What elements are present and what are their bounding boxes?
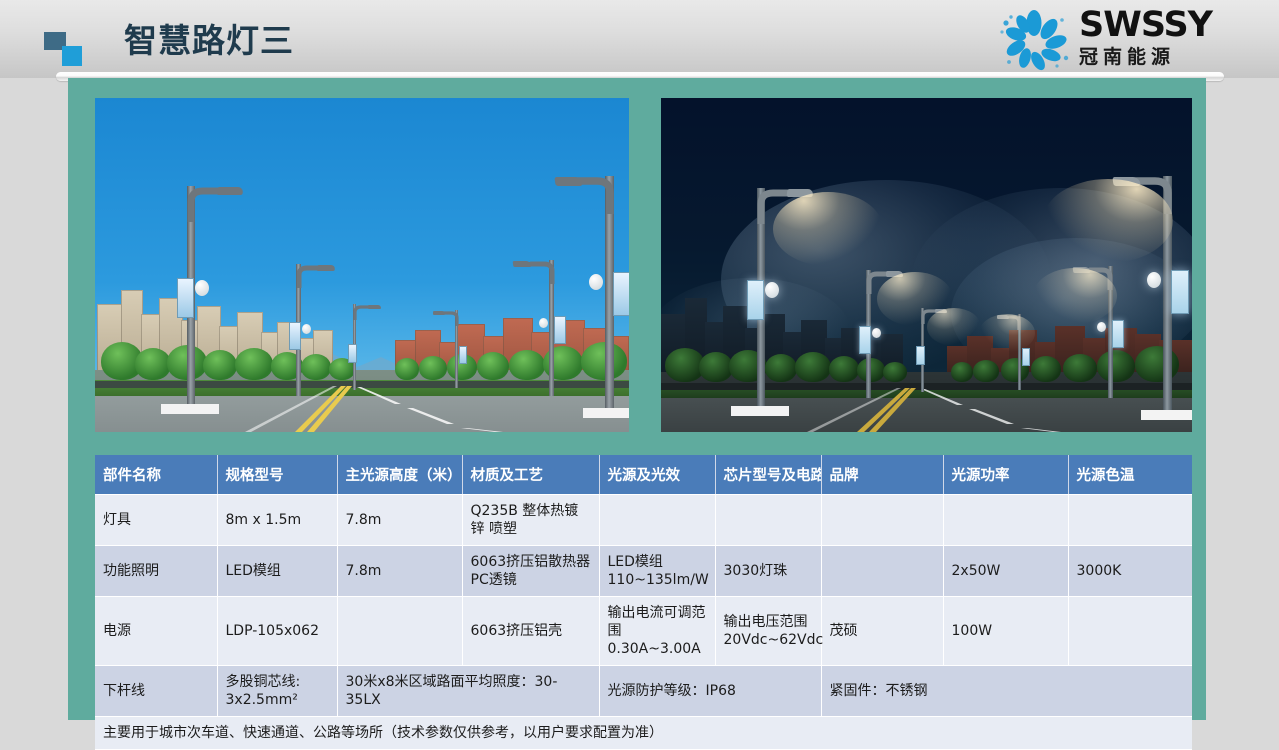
streetlight-luminaire [368,305,381,309]
cell-light-efficacy: LED模组 110~135lm/W [599,546,715,597]
streetlight-base-plate [1141,410,1192,420]
streetlight-luminaire [1073,267,1091,273]
column-header-light-efficacy: 光源及光效 [599,455,715,495]
water-droplet-burst-logo-icon [997,8,1071,72]
streetlight-pole [1113,176,1187,414]
streetlight-pole [915,308,947,392]
cell-material: Q235B 整体热镀锌 喷塑 [462,495,599,546]
cell-light-power [943,495,1068,546]
table-row: 灯具 8m x 1.5m 7.8m Q235B 整体热镀锌 喷塑 [95,495,1192,546]
streetlight-luminaire [433,311,445,315]
streetlight-base-plate [731,406,789,416]
streetlight-banner [177,278,194,318]
streetlight-pole [857,270,903,398]
tree [477,352,509,380]
cell-light-power: 100W [943,597,1068,666]
table-row: 电源 LDP-105x062 6063挤压铝壳 输出电流可调范围0.30A~3.… [95,597,1192,666]
tree [829,356,859,382]
cell-spec-model: 8m x 1.5m [217,495,337,546]
cell-light-efficacy: 输出电流可调范围0.30A~3.00A [599,597,715,666]
tree [395,358,419,380]
cell-chip-circuit: 3030灯珠 [715,546,821,597]
streetlight-luminaire [886,271,903,277]
tree [699,352,733,382]
smart-streetlight-night-photo [661,98,1192,432]
tree [135,348,171,380]
streetlight-pole [433,310,467,388]
company-logo: SWSSY 冠南能源 [997,6,1259,74]
streetlight-camera-dome-icon [539,318,548,328]
column-header-light-power: 光源功率 [943,455,1068,495]
table-header-row: 部件名称 规格型号 主光源高度（米） 材质及工艺 光源及光效 芯片型号及电路 品… [95,455,1192,495]
streetlight-banner [459,346,467,364]
page-title: 智慧路灯三 [124,21,294,61]
cell-light-power: 2x50W [943,546,1068,597]
cell-fastener-material: 紧固件：不锈钢 [821,666,1192,717]
cell-light-height: 7.8m [337,495,462,546]
cell-color-temp [1068,597,1192,666]
streetlight-camera-dome-icon [195,280,209,296]
cell-part-name: 电源 [95,597,217,666]
cell-color-temp [1068,495,1192,546]
column-header-brand: 品牌 [821,455,943,495]
column-header-color-temp: 光源色温 [1068,455,1192,495]
decor-square-light-icon [62,46,82,66]
streetlight-camera-dome-icon [302,324,311,334]
cell-road-illuminance: 30米x8米区域路面平均照度：30-35LX [337,666,599,717]
cell-color-temp: 3000K [1068,546,1192,597]
streetlight-pole [555,176,629,412]
header-decoration-squares [44,32,88,66]
cell-brand: 茂硕 [821,597,943,666]
column-header-light-height: 主光源高度（米） [337,455,462,495]
cell-chip-circuit [715,495,821,546]
streetlight-luminaire [554,177,582,186]
streetlight-banner [613,272,629,316]
streetlight-banner [859,326,871,354]
streetlight-banner [747,280,764,320]
streetlight-luminaire [997,315,1009,319]
streetlight-pole [743,188,813,410]
specification-table: 部件名称 规格型号 主光源高度（米） 材质及工艺 光源及光效 芯片型号及电路 品… [95,455,1192,750]
streetlight-pole [173,186,243,408]
cell-brand [821,546,943,597]
tree [1031,356,1061,382]
cell-material: 6063挤压铝壳 [462,597,599,666]
streetlight-luminaire [1112,177,1140,186]
cell-part-name: 功能照明 [95,546,217,597]
column-header-spec-model: 规格型号 [217,455,337,495]
smart-streetlight-daytime-photo [95,98,629,432]
tree [973,360,999,382]
cell-spec-model: LDP-105x062 [217,597,337,666]
cell-light-height: 7.8m [337,546,462,597]
column-header-chip-circuit: 芯片型号及电路 [715,455,821,495]
streetlight-luminaire [317,265,336,271]
streetlight-camera-dome-icon [1147,272,1161,288]
streetlight-camera-dome-icon [765,282,779,298]
table-row: 功能照明 LED模组 7.8m 6063挤压铝散热器PC透镜 LED模组 110… [95,546,1192,597]
application-note: 主要用于城市次车道、快速通道、公路等场所（技术参数仅供参考，以用户要求配置为准） [95,717,1192,750]
logo-chinese-name: 冠南能源 [1079,46,1259,68]
streetlight-luminaire [935,309,947,313]
cell-spec-model: LED模组 [217,546,337,597]
streetlight-banner [1022,348,1030,366]
streetlight-luminaire [216,187,243,195]
streetlight-luminaire [786,189,813,197]
streetlight-banner [916,346,925,365]
streetlight-camera-dome-icon [872,328,881,338]
streetlight-banner [348,344,357,363]
cell-material: 6063挤压铝散热器PC透镜 [462,546,599,597]
product-images-row [95,98,1192,432]
table-note-row: 主要用于城市次车道、快速通道、公路等场所（技术参数仅供参考，以用户要求配置为准） [95,717,1192,750]
streetlight-camera-dome-icon [1097,322,1106,332]
column-header-material: 材质及工艺 [462,455,599,495]
streetlight-banner [289,322,301,350]
streetlight-pole [287,264,335,396]
cell-part-name: 下杆线 [95,666,217,717]
logo-wordmark: SWSSY [1079,7,1259,43]
cell-chip-circuit: 输出电压范围20Vdc~62Vdc [715,597,821,666]
cell-light-height [337,597,462,666]
cell-part-name: 灯具 [95,495,217,546]
table-row: 下杆线 多股铜芯线: 3x2.5mm² 30米x8米区域路面平均照度：30-35… [95,666,1192,717]
column-header-part-name: 部件名称 [95,455,217,495]
cell-brand [821,495,943,546]
streetlight-base-plate [583,408,629,418]
streetlight-luminaire [513,261,532,267]
streetlight-base-plate [161,404,219,414]
cell-ip-rating: 光源防护等级：IP68 [599,666,821,717]
cell-light-efficacy [599,495,715,546]
cell-spec-model: 多股铜芯线: 3x2.5mm² [217,666,337,717]
streetlight-pole [997,314,1029,390]
streetlight-pole [347,304,381,390]
streetlight-banner [1171,270,1189,314]
streetlight-camera-dome-icon [589,274,603,290]
tree [951,362,973,382]
